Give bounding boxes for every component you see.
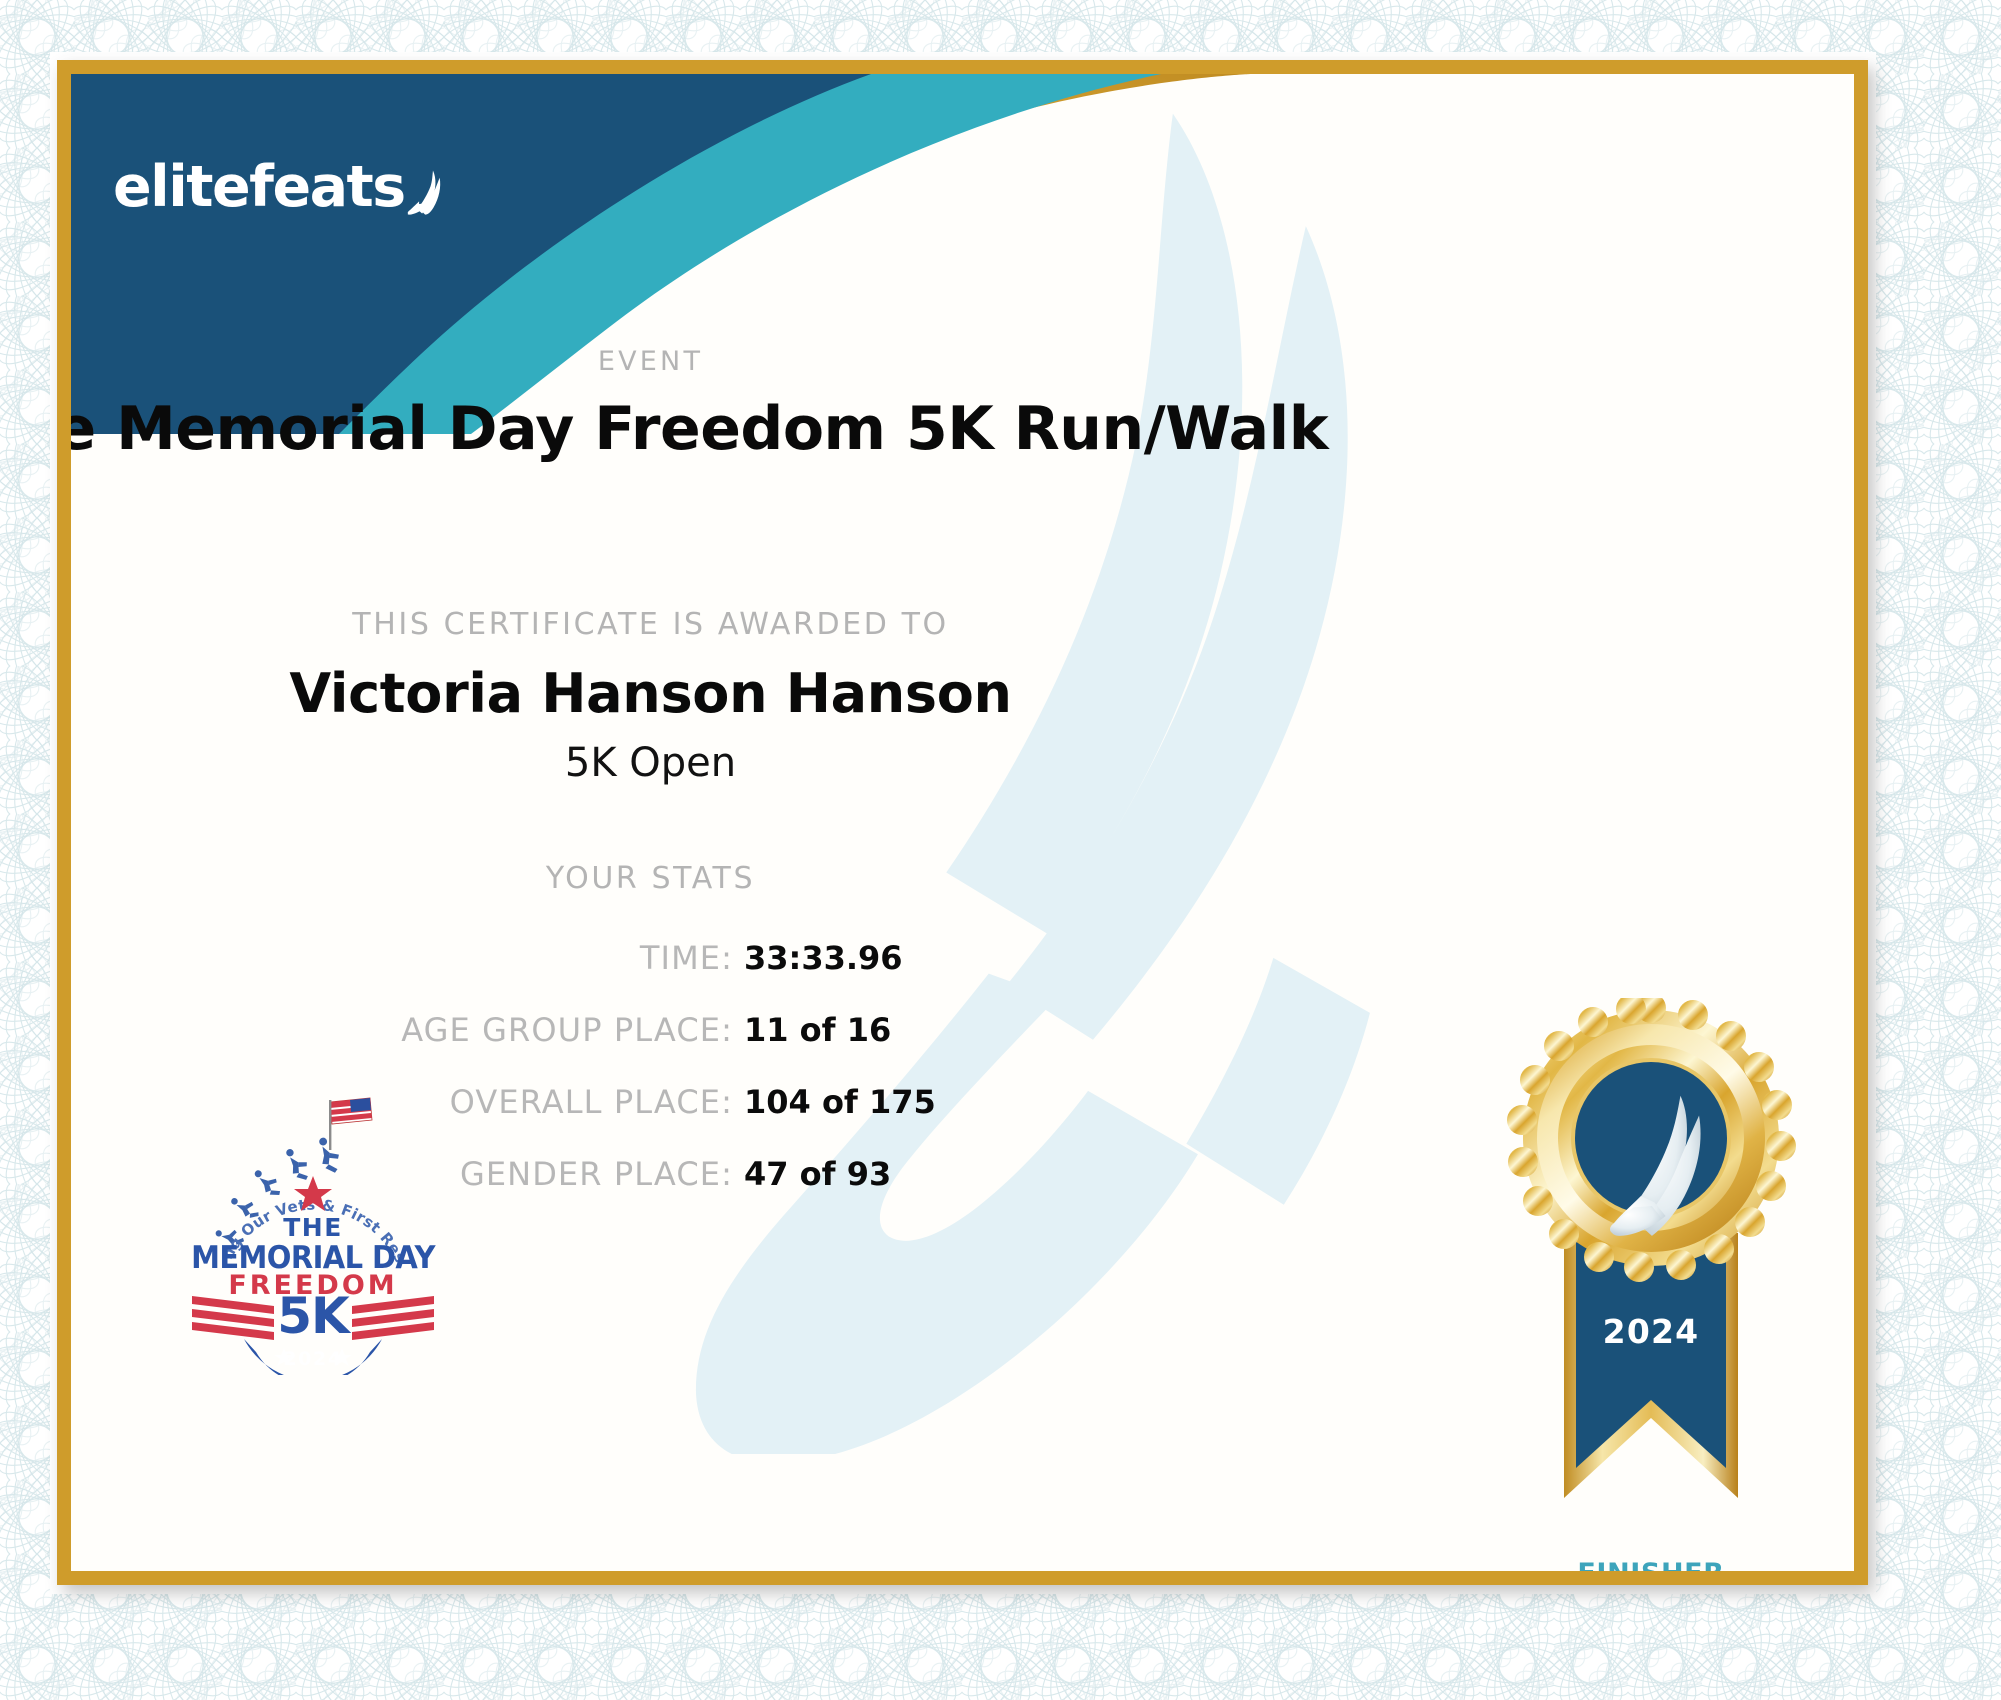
gold-medal-rosette-icon: 2024 [1486, 998, 1816, 1568]
recipient-name: Victoria Hanson Hanson [71, 662, 1542, 725]
badge-caption-line1: FINISHER [1486, 1558, 1816, 1571]
race-logo-line1: THE [283, 1213, 343, 1242]
badge-caption: FINISHER CERTIFICATE [1486, 1558, 1816, 1571]
stat-value: 47 of 93 [744, 1155, 954, 1193]
stat-row-time: TIME: 33:33.96 [71, 939, 954, 992]
certificate-page: elitefeats EVENT The Memorial Day Freedo… [0, 0, 2001, 1700]
stat-key: GENDER PLACE: [460, 1155, 733, 1193]
certificate-card: elitefeats EVENT The Memorial Day Freedo… [57, 60, 1868, 1585]
race-logo-line4: 5K [277, 1287, 352, 1345]
recipient-division: 5K Open [71, 740, 1542, 786]
stat-key: TIME: [640, 939, 733, 977]
event-label: EVENT [71, 346, 1542, 377]
memorial-day-freedom-5k-logo-icon: Supporting Our Vets & First Responders T… [188, 1090, 438, 1375]
stat-value: 11 of 16 [744, 1011, 954, 1049]
stat-value: 33:33.96 [744, 939, 954, 977]
usa-flag-icon [329, 1098, 372, 1150]
stat-key: OVERALL PLACE: [450, 1083, 733, 1121]
awarded-to-label: THIS CERTIFICATE IS AWARDED TO [71, 607, 1542, 642]
race-logo-year: 2024 [283, 1348, 342, 1370]
stat-row-age-group-place: AGE GROUP PLACE: 11 of 16 [71, 1011, 954, 1064]
event-title: The Memorial Day Freedom 5K Run/Walk [71, 394, 1542, 464]
stat-key: AGE GROUP PLACE: [401, 1011, 733, 1049]
stat-value: 104 of 175 [744, 1083, 954, 1121]
your-stats-label: YOUR STATS [71, 861, 1542, 896]
badge-ribbon-year: 2024 [1603, 1312, 1700, 1351]
